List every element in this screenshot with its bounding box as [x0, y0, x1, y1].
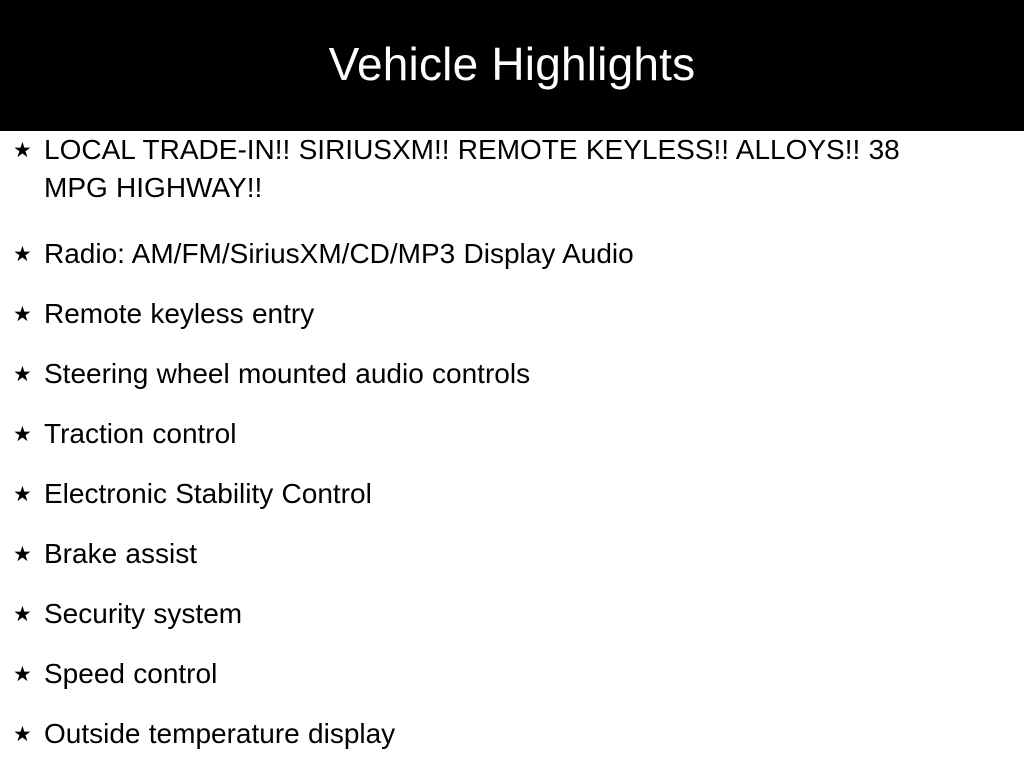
list-item: ★ Steering wheel mounted audio controls — [0, 355, 1024, 415]
list-item: ★ Outside temperature display — [0, 715, 1024, 775]
list-item-label: Remote keyless entry — [44, 295, 969, 333]
page-title: Vehicle Highlights — [329, 41, 696, 91]
list-item: ★ Security system — [0, 595, 1024, 655]
list-item: ★ Radio: AM/FM/SiriusXM/CD/MP3 Display A… — [0, 235, 1024, 295]
list-item-label: Brake assist — [44, 535, 969, 573]
list-item-label: Steering wheel mounted audio controls — [44, 355, 969, 393]
star-icon: ★ — [13, 475, 44, 513]
list-item: ★ Speed control — [0, 655, 1024, 715]
star-icon: ★ — [13, 235, 44, 273]
vehicle-highlights-page: Vehicle Highlights ★ LOCAL TRADE-IN!! SI… — [0, 0, 1024, 768]
star-icon: ★ — [13, 355, 44, 393]
list-item: ★ LOCAL TRADE-IN!! SIRIUSXM!! REMOTE KEY… — [0, 131, 1024, 235]
list-item: ★ Brake assist — [0, 535, 1024, 595]
list-item: ★ Traction control — [0, 415, 1024, 475]
list-item-label: Radio: AM/FM/SiriusXM/CD/MP3 Display Aud… — [44, 235, 969, 273]
list-item-label: Outside temperature display — [44, 715, 969, 753]
list-item: ★ Remote keyless entry — [0, 295, 1024, 355]
star-icon: ★ — [13, 715, 44, 753]
list-item-label: Speed control — [44, 655, 969, 693]
list-item-label: Security system — [44, 595, 969, 633]
list-item-label: LOCAL TRADE-IN!! SIRIUSXM!! REMOTE KEYLE… — [44, 131, 969, 207]
star-icon: ★ — [13, 131, 44, 169]
star-icon: ★ — [13, 415, 44, 453]
list-item-label: Electronic Stability Control — [44, 475, 969, 513]
list-item: ★ Electronic Stability Control — [0, 475, 1024, 535]
star-icon: ★ — [13, 595, 44, 633]
vehicle-highlights-list: ★ LOCAL TRADE-IN!! SIRIUSXM!! REMOTE KEY… — [0, 131, 1024, 775]
star-icon: ★ — [13, 295, 44, 333]
star-icon: ★ — [13, 655, 44, 693]
star-icon: ★ — [13, 535, 44, 573]
list-item-label: Traction control — [44, 415, 969, 453]
page-header: Vehicle Highlights — [0, 0, 1024, 131]
